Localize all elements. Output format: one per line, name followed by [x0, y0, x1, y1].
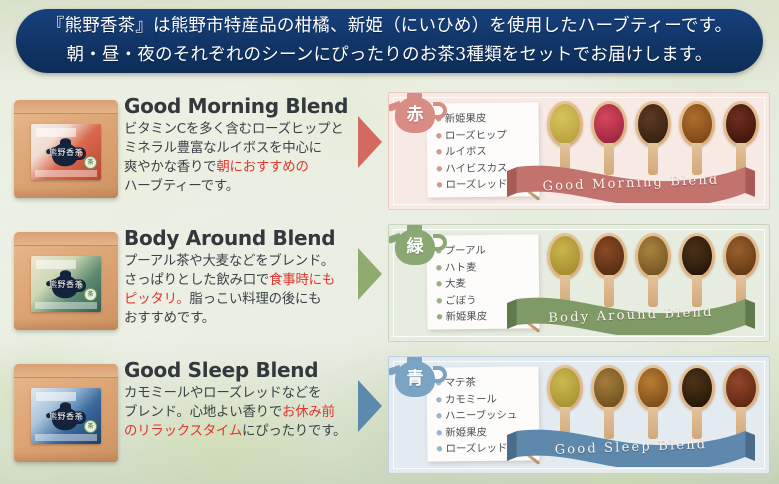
- header-line-2: 朝・昼・夜のそれぞれのシーンにぴったりのお茶3種類をセットでお届けします。: [67, 41, 713, 70]
- ingredient-item: ハト麦: [436, 258, 539, 276]
- pouch-product-name: 熊野香茶: [49, 148, 83, 157]
- label-bottom-strip: [35, 434, 97, 441]
- ingredient-panel-good-morning: 赤 新姫果皮 ローズヒップ ルイボス ハイビスカス ローズレッド G: [388, 92, 770, 210]
- product-pouch-good-sleep: 熊野香茶 茶: [14, 364, 118, 462]
- blend-row-good-morning: 熊野香茶 茶 Good Morning Blend ビタミンCを多く含むローズヒ…: [0, 86, 779, 216]
- pouch-label: 熊野香茶 茶: [31, 124, 101, 180]
- header-banner: 『熊野香茶』は熊野市特産品の柑橘、新姫（にいひめ）を使用したハーブティーです。 …: [16, 9, 763, 73]
- blend-description: プーアル茶や大麦などをブレンド。 さっぱりとした飲み口で食事時にも ピッタリ。脂…: [124, 252, 354, 328]
- ribbon-banner: Body Around Blend: [507, 295, 755, 335]
- label-bottom-strip: [35, 170, 97, 177]
- desc-line-1: プーアル茶や大麦などをブレンド。: [124, 254, 334, 269]
- ingredient-item: ハニーブッシュ: [436, 406, 539, 424]
- blend-row-good-sleep: 熊野香茶 茶 Good Sleep Blend カモミールやローズレッドなどを …: [0, 350, 779, 480]
- ingredient-item: ローズヒップ: [436, 126, 539, 144]
- desc-line-1: カモミールやローズレッドなどを: [124, 386, 321, 401]
- ingredient-panel-good-sleep: 青 マテ茶 カモミール ハニーブッシュ 新姫果皮 ローズレッド Go: [388, 356, 770, 474]
- desc-line-2a: ブレンド。心地よい香りで: [124, 405, 282, 420]
- ribbon-banner: Good Morning Blend: [507, 163, 755, 203]
- desc-highlight: お休み前: [282, 405, 335, 420]
- pouch-product-name: 熊野香茶: [49, 412, 83, 421]
- product-pouch-body-around: 熊野香茶 茶: [14, 232, 118, 330]
- desc-highlight: ピッタリ。: [124, 292, 189, 307]
- ingredient-item: ルイボス: [436, 142, 539, 160]
- label-seal: 茶: [84, 156, 97, 169]
- desc-line-3b: にぴったりです。: [242, 424, 346, 439]
- desc-line-4: ハーブティーです。: [124, 179, 239, 194]
- badge-character: 緑: [401, 235, 429, 259]
- ingredient-item: プーアル: [436, 241, 539, 259]
- arrow-right-icon: [358, 248, 382, 300]
- ingredient-item: 大麦: [436, 274, 539, 292]
- arrow-right-icon: [358, 380, 382, 432]
- color-badge-teapot-icon: 緑: [388, 224, 449, 267]
- blend-description: ビタミンCを多く含むローズヒップと ミネラル豊富なルイボスを中心に 爽やかな香り…: [124, 120, 354, 196]
- ingredient-panel-body-around: 緑 プーアル ハト麦 大麦 ごぼう 新姫果皮 Body Around: [388, 224, 770, 342]
- pouch-product-name: 熊野香茶: [49, 280, 83, 289]
- blend-text-good-morning: Good Morning Blend ビタミンCを多く含むローズヒップと ミネラ…: [124, 94, 354, 196]
- label-top-strip: [36, 128, 76, 137]
- color-badge-teapot-icon: 青: [388, 356, 449, 399]
- desc-line-3a: 爽やかな香りで: [124, 160, 216, 175]
- blend-row-body-around: 熊野香茶 茶 Body Around Blend プーアル茶や大麦などをブレンド…: [0, 218, 779, 348]
- header-line-1: 『熊野香茶』は熊野市特産品の柑橘、新姫（にいひめ）を使用したハーブティーです。: [47, 12, 732, 41]
- badge-character: 赤: [401, 103, 429, 127]
- ribbon-banner: Good Sleep Blend: [507, 427, 755, 467]
- badge-character: 青: [401, 367, 429, 391]
- infographic-root: 『熊野香茶』は熊野市特産品の柑橘、新姫（にいひめ）を使用したハーブティーです。 …: [0, 0, 779, 484]
- label-top-strip: [36, 260, 76, 269]
- label-bottom-strip: [35, 302, 97, 309]
- blend-title: Good Morning Blend: [124, 94, 354, 118]
- desc-line-1: ビタミンCを多く含むローズヒップと: [124, 122, 344, 137]
- color-badge-teapot-icon: 赤: [388, 92, 449, 135]
- desc-highlight: 朝におすすめの: [216, 160, 308, 175]
- desc-highlight: のリラックスタイム: [124, 424, 242, 439]
- blend-title: Good Sleep Blend: [124, 358, 354, 382]
- product-pouch-good-morning: 熊野香茶 茶: [14, 100, 118, 198]
- pouch-label: 熊野香茶 茶: [31, 388, 101, 444]
- blend-text-body-around: Body Around Blend プーアル茶や大麦などをブレンド。 さっぱりと…: [124, 226, 354, 328]
- label-seal: 茶: [84, 288, 97, 301]
- arrow-right-icon: [358, 116, 382, 168]
- desc-line-2a: さっぱりとした飲み口で: [124, 273, 269, 288]
- blend-text-good-sleep: Good Sleep Blend カモミールやローズレッドなどを ブレンド。心地…: [124, 358, 354, 441]
- blend-description: カモミールやローズレッドなどを ブレンド。心地よい香りでお休み前 のリラックスタ…: [124, 384, 354, 441]
- desc-line-4: おすすめです。: [124, 311, 215, 326]
- desc-line-3b: 脂っこい料理の後にも: [189, 292, 321, 307]
- desc-line-2: ミネラル豊富なルイボスを中心に: [124, 141, 322, 156]
- ingredient-item: 新姫果皮: [436, 109, 539, 127]
- label-top-strip: [36, 392, 76, 401]
- desc-highlight: 食事時にも: [269, 273, 335, 288]
- label-seal: 茶: [84, 420, 97, 433]
- ingredient-item: マテ茶: [436, 373, 539, 391]
- pouch-label: 熊野香茶 茶: [31, 256, 101, 312]
- blend-title: Body Around Blend: [124, 226, 354, 250]
- ingredient-item: カモミール: [436, 390, 539, 408]
